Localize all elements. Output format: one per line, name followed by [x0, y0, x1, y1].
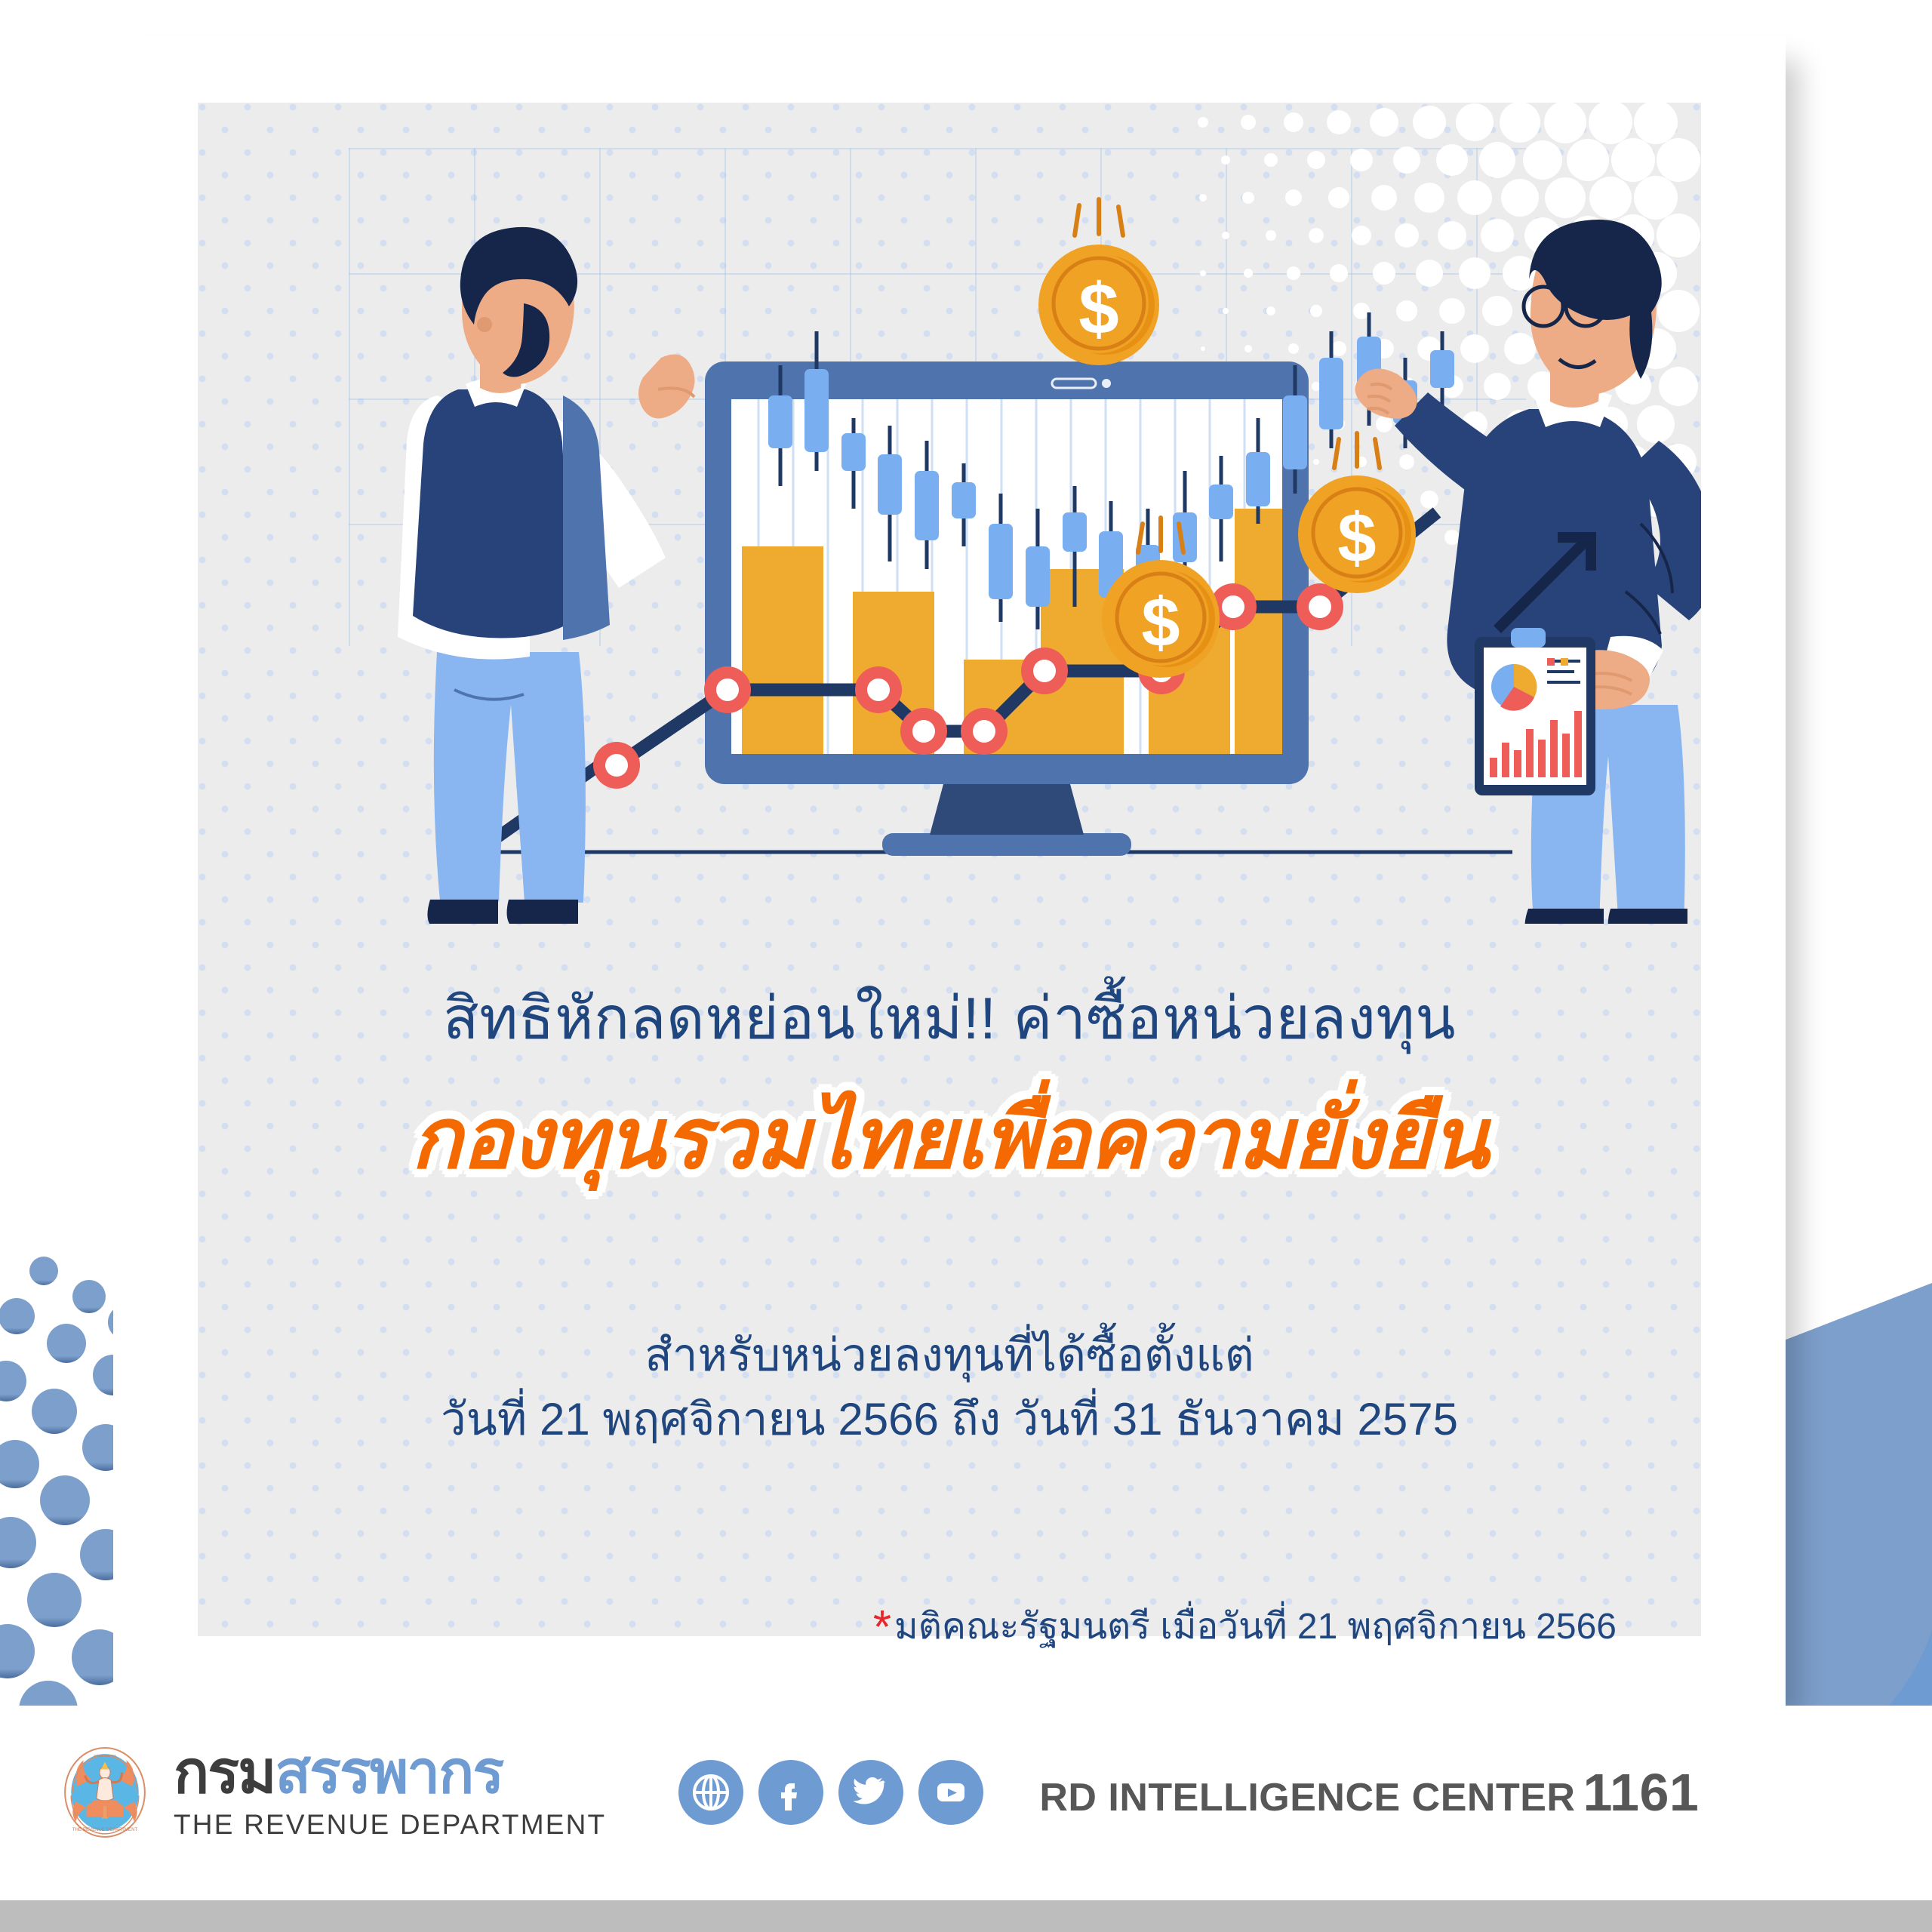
twitter-icon[interactable] — [838, 1760, 903, 1825]
hero-illustration: $ $ — [282, 169, 1701, 924]
subtitle-line-1: สำหรับหน่วยลงทุนที่ได้ซื้อตั้งแต่ — [198, 1323, 1701, 1387]
facebook-icon[interactable] — [758, 1760, 823, 1825]
clipboard — [1475, 628, 1595, 795]
svg-text:กรมสรรพากร: กรมสรรพากร — [94, 1754, 116, 1758]
footnote-text: มติคณะรัฐมนตรี เมื่อวันที่ 21 พฤศจิกายน … — [894, 1607, 1617, 1647]
page-title: กองทุนรวมไทยเพื่อความยั่งยืน — [198, 1089, 1701, 1189]
brand-lockup: กรมสรรพากร THE REVENUE DEPARTMENT — [174, 1744, 606, 1841]
footer-gray-bar — [0, 1900, 1932, 1932]
svg-text:$: $ — [1337, 500, 1376, 577]
svg-text:$: $ — [1141, 584, 1180, 661]
social-links — [678, 1760, 983, 1825]
revenue-department-emblem: กรมสรรพากร THE REVENUE DEPARTMENT — [59, 1746, 151, 1838]
brand-english-name: THE REVENUE DEPARTMENT — [174, 1809, 606, 1841]
coin-3: $ — [1298, 433, 1416, 593]
coin-1: $ — [1038, 199, 1159, 365]
brand-thai-suffix: สรรพากร — [275, 1739, 503, 1805]
person-right — [1355, 220, 1701, 924]
hotline-label: RD INTELLIGENCE CENTER — [1039, 1776, 1575, 1820]
hotline-number: 1161 — [1583, 1763, 1699, 1822]
youtube-icon[interactable] — [918, 1760, 983, 1825]
brand-thai-prefix: กรม — [174, 1739, 275, 1805]
poster-card: $ $ — [113, 36, 1786, 1706]
subtitle-line-2: วันที่ 21 พฤศจิกายน 2566 ถึง วันที่ 31 ธ… — [198, 1387, 1701, 1451]
stock-analysis-illustration: $ $ — [282, 169, 1701, 924]
brand-thai-name: กรมสรรพากร — [174, 1744, 606, 1800]
svg-text:THE REVENUE DEPARTMENT: THE REVENUE DEPARTMENT — [72, 1827, 138, 1832]
hotline-info: RD INTELLIGENCE CENTER1161 — [1039, 1762, 1699, 1823]
page-footer: กรมสรรพากร THE REVENUE DEPARTMENT กรมสรร… — [0, 1706, 1932, 1932]
svg-text:$: $ — [1078, 269, 1118, 349]
footnote: *มติคณะรัฐมนตรี เมื่อวันที่ 21 พฤศจิกายน… — [198, 1602, 1617, 1654]
asterisk-icon: * — [873, 1601, 891, 1654]
page-subtitle: สำหรับหน่วยลงทุนที่ได้ซื้อตั้งแต่ วันที่… — [198, 1323, 1701, 1451]
person-left — [398, 227, 695, 924]
page-headline: สิทธิหักลดหย่อนใหม่!! ค่าซื้อหน่วยลงทุน — [198, 983, 1701, 1053]
website-icon[interactable] — [678, 1760, 743, 1825]
